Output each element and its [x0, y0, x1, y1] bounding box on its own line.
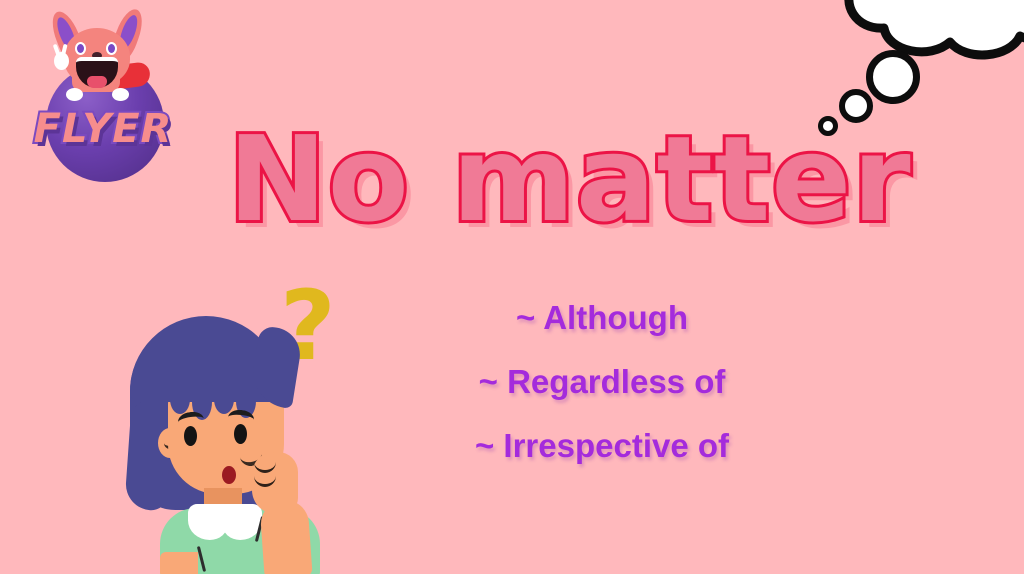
thought-bubble-dot-large: [866, 50, 920, 104]
mascot-pupil-left: [77, 44, 84, 53]
list-item: ~ Although: [400, 286, 804, 350]
mascot-pupil-right: [108, 44, 115, 53]
girl-eye-right: [234, 424, 247, 444]
page-title: No matter: [228, 113, 944, 245]
mascot-foot-left: [66, 88, 83, 101]
list-item: ~ Regardless of: [400, 350, 804, 414]
list-item: ~ Irrespective of: [400, 414, 804, 478]
girl-eye-left: [184, 426, 197, 446]
mascot-mouth: [76, 57, 118, 88]
page-title-text: No matter: [228, 113, 944, 245]
mascot-eye-left: [75, 42, 86, 55]
mascot-eye-right: [106, 42, 117, 55]
logo-wordmark: FLYER: [28, 106, 178, 152]
mascot-foot-right: [112, 88, 129, 101]
mascot-character: F: [38, 2, 168, 108]
girl-bang: [170, 384, 190, 414]
flyer-logo[interactable]: F FLYER: [16, 2, 188, 184]
girl-mouth: [222, 466, 236, 484]
synonym-list: ~ Although ~ Regardless of ~ Irrespectiv…: [400, 286, 804, 478]
girl-bang: [214, 384, 234, 414]
thinking-girl-illustration: ?: [112, 300, 372, 574]
mascot-tongue: [87, 76, 107, 88]
slide-canvas: F FLYER No matter: [0, 0, 1024, 574]
mascot-head: [64, 28, 130, 86]
girl-arm-left: [160, 552, 198, 574]
